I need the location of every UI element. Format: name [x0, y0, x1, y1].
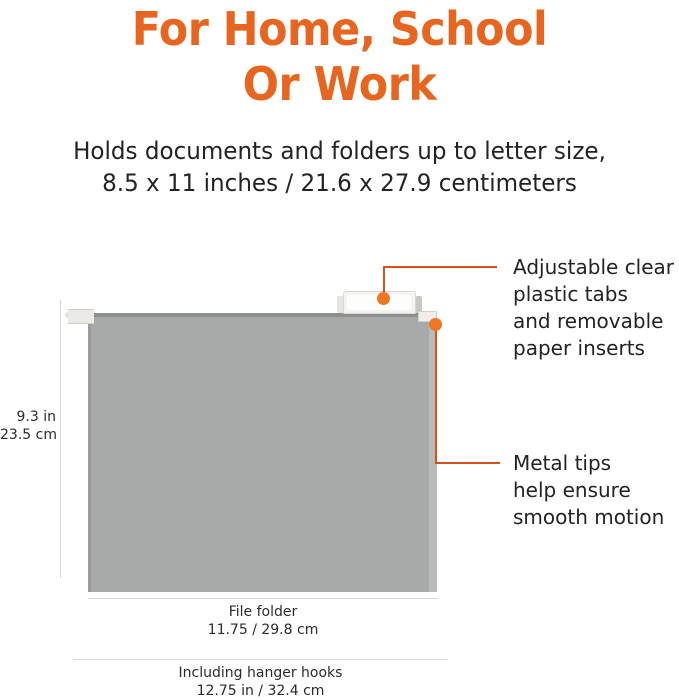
- folder-width-dimension-line: [88, 598, 438, 599]
- folder-width-value: 11.75 / 29.8 cm: [88, 621, 438, 639]
- height-label-inches: 9.3 in: [0, 408, 56, 426]
- callout-2-leader-horizontal: [435, 462, 500, 464]
- infographic-canvas: For Home, School Or Work Holds documents…: [0, 0, 679, 700]
- callout-2-marker-dot-icon: [429, 318, 442, 331]
- page-subtitle: Holds documents and folders up to letter…: [14, 135, 666, 199]
- folder-left-edge: [88, 313, 91, 592]
- subtitle-line-2: 8.5 x 11 inches / 21.6 x 27.9 centimeter…: [14, 167, 666, 199]
- folder-width-title: File folder: [88, 603, 438, 621]
- headline-line-1: For Home, School: [24, 2, 655, 57]
- callout-2-leader-vertical: [435, 324, 437, 464]
- callout-1-line-1: Adjustable clear: [513, 254, 674, 281]
- callout-1-marker-dot-icon: [377, 292, 390, 305]
- page-title: For Home, School Or Work: [24, 2, 655, 112]
- callout-1-line-2: plastic tabs: [513, 281, 674, 308]
- metal-tip-left-icon: [68, 309, 94, 324]
- hooks-width-dimension-line: [73, 659, 448, 660]
- callout-1-leader-horizontal: [383, 266, 497, 268]
- height-dimension-label: 9.3 in 23.5 cm: [0, 408, 56, 444]
- folder-body: [88, 313, 437, 592]
- height-dimension-line: [60, 300, 61, 578]
- height-label-centimeters: 23.5 cm: [0, 426, 56, 444]
- callout-1-line-4: paper inserts: [513, 335, 674, 362]
- callout-1-text: Adjustable clear plastic tabs and remova…: [513, 254, 674, 362]
- callout-2-line-2: help ensure: [513, 477, 664, 504]
- callout-1-line-3: and removable: [513, 308, 674, 335]
- subtitle-line-1: Holds documents and folders up to letter…: [14, 135, 666, 167]
- hooks-width-value: 12.75 in / 32.4 cm: [73, 682, 448, 700]
- folder-width-label: File folder 11.75 / 29.8 cm: [88, 603, 438, 639]
- hooks-width-title: Including hanger hooks: [73, 664, 448, 682]
- hooks-width-label: Including hanger hooks 12.75 in / 32.4 c…: [73, 664, 448, 700]
- callout-2-text: Metal tips help ensure smooth motion: [513, 450, 664, 531]
- callout-2-line-1: Metal tips: [513, 450, 664, 477]
- headline-line-2: Or Work: [24, 57, 655, 112]
- callout-2-line-3: smooth motion: [513, 504, 664, 531]
